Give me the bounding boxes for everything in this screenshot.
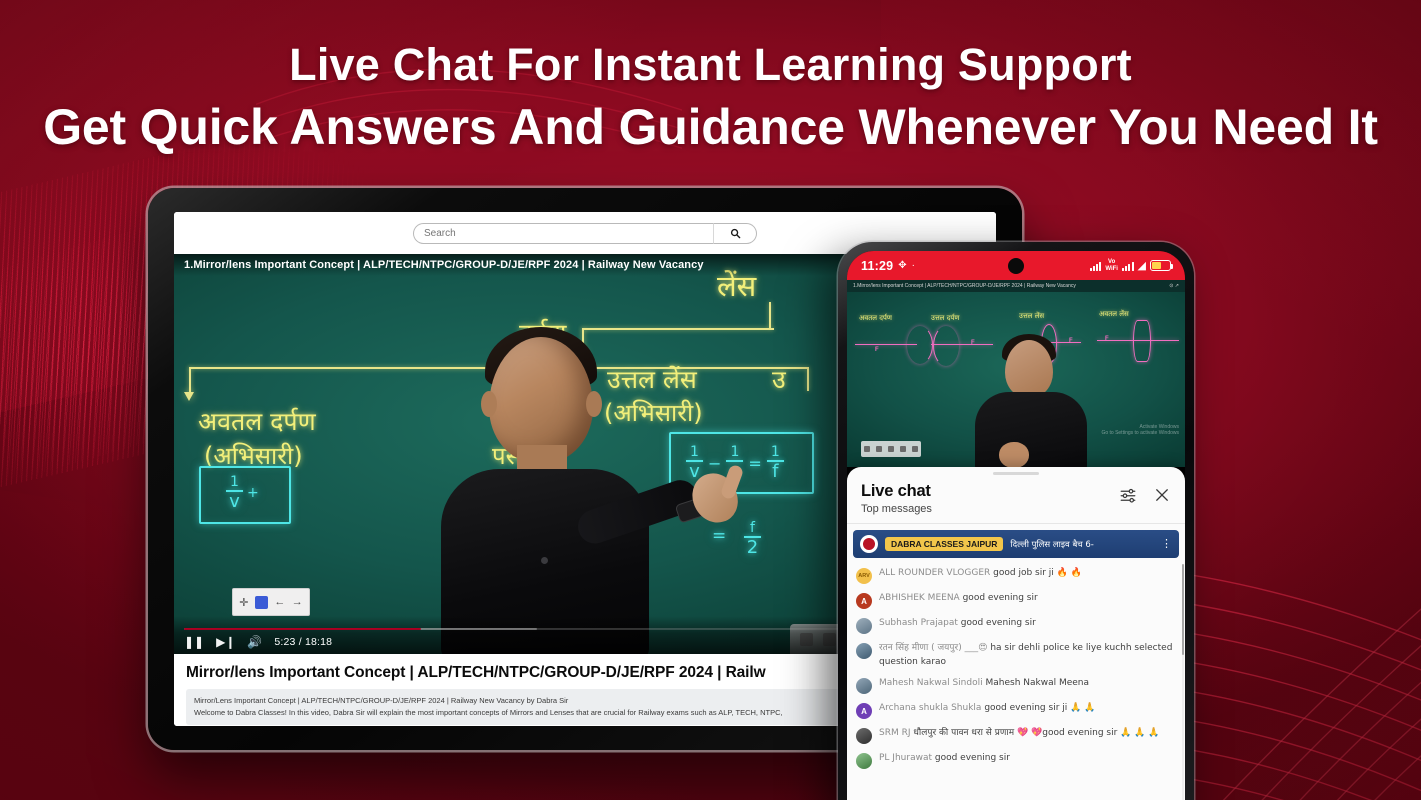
live-chat-heading-group: Live chat Top messages: [861, 482, 932, 515]
watermark-line-2: Go to Settings to activate Windows: [1101, 430, 1179, 437]
chat-author: रतन सिंह मीणा ( जयपुर) ___😍: [879, 643, 987, 653]
instructor-microphone: [541, 557, 548, 564]
diagram-label-concave-lens: अवतल लेंस: [1099, 310, 1129, 319]
live-chat-panel: Live chat Top messages: [847, 467, 1185, 800]
wifi-icon: ◢: [1138, 259, 1146, 272]
avatar: [856, 753, 872, 769]
live-chat-actions: [1119, 482, 1171, 504]
search-icon: [730, 228, 741, 239]
chat-message-body: Archana shukla Shukla good evening sir j…: [879, 702, 1095, 716]
signal-bars-icon-secondary: [1122, 261, 1134, 271]
pause-icon[interactable]: ❚❚: [184, 636, 204, 648]
chat-message[interactable]: SRM RJ धौलपुर की पावन धरा से प्रणाम 💖 💖g…: [847, 723, 1185, 748]
next-track-icon[interactable]: ▶❙: [216, 636, 235, 648]
chat-message-body: Mahesh Nakwal Sindoli Mahesh Nakwal Meen…: [879, 677, 1089, 691]
diagram-label-concave-mirror: अवतल दर्पण: [859, 314, 892, 323]
chat-text: good job sir ji 🔥 🔥: [993, 568, 1082, 578]
phone-tool-icon-2[interactable]: [876, 446, 882, 452]
chat-author: ABHISHEK MEENA: [879, 593, 960, 603]
status-dot-icon: ·: [912, 260, 915, 271]
chat-text: Mahesh Nakwal Meena: [986, 678, 1090, 688]
live-chat-subtitle[interactable]: Top messages: [861, 503, 932, 515]
chat-message-body: SRM RJ धौलपुर की पावन धरा से प्रणाम 💖 💖g…: [879, 727, 1160, 741]
chat-scrollbar[interactable]: [1182, 564, 1184, 800]
phone-instructor-hand: [999, 442, 1029, 467]
avatar: [856, 678, 872, 694]
avatar: [856, 618, 872, 634]
instructor-figure: [429, 319, 659, 654]
avatar: [856, 643, 872, 659]
phone-video-title-text: 1.Mirror/lens Important Concept | ALP/TE…: [853, 283, 1076, 289]
pinned-channel-badge: DABRA CLASSES JAIPUR: [885, 537, 1003, 551]
filter-settings-icon[interactable]: [1119, 486, 1137, 504]
status-bar-right: VoWiFi ◢: [1090, 259, 1171, 272]
signal-bars-icon: [1090, 261, 1102, 271]
bluetooth-icon: ✥: [898, 260, 906, 271]
diagram-focal-3: F: [1069, 338, 1073, 344]
chat-message[interactable]: PL Jhurawat good evening sir: [847, 748, 1185, 773]
search-button[interactable]: [713, 223, 757, 244]
avatar: [856, 728, 872, 744]
more-vertical-icon[interactable]: ⋮: [1161, 541, 1172, 548]
chat-message-body: रतन सिंह मीणा ( जयपुर) ___😍 ha sir dehli…: [879, 642, 1175, 669]
volte-icon: VoWiFi: [1105, 259, 1118, 272]
annotation-move-toolbar[interactable]: ✛ ← →: [232, 588, 310, 616]
live-chat-title: Live chat: [861, 482, 932, 501]
phone-video-player[interactable]: अवतल दर्पण F उत्तल दर्पण F उत्तल लेंस F …: [847, 292, 1185, 467]
chat-author: PL Jhurawat: [879, 753, 932, 763]
arrow-right-icon[interactable]: →: [292, 596, 303, 608]
chat-text: good evening sir: [935, 753, 1010, 763]
chat-text: good evening sir ji 🙏 🙏: [984, 703, 1095, 713]
chat-message[interactable]: ARV ALL ROUNDER VLOGGER good job sir ji …: [847, 563, 1185, 588]
chat-message-body: ABHISHEK MEENA good evening sir: [879, 592, 1038, 606]
pinned-avatar: [860, 535, 878, 553]
phone-instructor-head: [1005, 340, 1053, 398]
phone-annotation-toolbar[interactable]: [861, 441, 921, 457]
chat-message-body: PL Jhurawat good evening sir: [879, 752, 1010, 766]
avatar: A: [856, 593, 872, 609]
phone-device: 11:29 ✥ · VoWiFi ◢ 1.Mirror/len: [838, 242, 1194, 800]
windows-activation-watermark: Activate Windows Go to Settings to activ…: [1101, 424, 1179, 438]
chat-message[interactable]: A ABHISHEK MEENA good evening sir: [847, 588, 1185, 613]
chalk-mirror-left-drop: [189, 367, 191, 395]
chat-message[interactable]: रतन सिंह मीणा ( जयपुर) ___😍 ha sir dehli…: [847, 638, 1185, 673]
close-icon[interactable]: [1153, 486, 1171, 504]
chat-author: ALL ROUNDER VLOGGER: [879, 568, 990, 578]
chalk-formula-box-left: [199, 466, 291, 524]
phone-screen: 11:29 ✥ · VoWiFi ◢ 1.Mirror/len: [847, 251, 1185, 800]
phone-video-strip-icons[interactable]: ⊙ ↗: [1169, 283, 1179, 289]
phone-instructor-body: [975, 392, 1087, 467]
front-camera-punch-hole: [1008, 258, 1024, 274]
chat-text: धौलपुर की पावन धरा से प्रणाम 💖 💖good eve…: [913, 728, 1159, 738]
status-bar-left: 11:29 ✥ ·: [861, 259, 915, 273]
chat-author: Mahesh Nakwal Sindoli: [879, 678, 983, 688]
instructor-ear-left: [481, 391, 497, 417]
avatar: A: [856, 703, 872, 719]
chat-message-body: Subhash Prajapat good evening sir: [879, 617, 1036, 631]
phone-tool-icon-5[interactable]: [912, 446, 918, 452]
chat-message[interactable]: A Archana shukla Shukla good evening sir…: [847, 698, 1185, 723]
chalk-lens-stem: [769, 302, 771, 328]
pinned-message[interactable]: DABRA CLASSES JAIPUR दिल्ली पुलिस लाइव ब…: [853, 530, 1179, 558]
move-cross-icon[interactable]: ✛: [239, 596, 248, 609]
phone-status-bar: 11:29 ✥ · VoWiFi ◢: [847, 251, 1185, 280]
instructor-ear-right: [586, 391, 602, 417]
diagram-concave-mirror-arc: [907, 326, 933, 364]
chalk-mirror-arrow-left: [184, 392, 194, 401]
diagram-convex-mirror-arc: [933, 326, 959, 366]
battery-icon: [1150, 260, 1171, 271]
volume-icon[interactable]: 🔊: [247, 636, 262, 648]
chat-author: SRM RJ: [879, 728, 911, 738]
phone-video-title-strip: 1.Mirror/lens Important Concept | ALP/TE…: [847, 280, 1185, 292]
chat-message-body: ALL ROUNDER VLOGGER good job sir ji 🔥 🔥: [879, 567, 1082, 581]
diagram-concave-lens-shape: [1133, 320, 1151, 362]
diagram-focal-4: F: [1105, 336, 1109, 342]
arrow-left-icon[interactable]: ←: [274, 596, 285, 608]
chat-text: good evening sir: [961, 618, 1036, 628]
avatar: ARV: [856, 568, 872, 584]
diagram-focal-1: F: [875, 347, 879, 353]
chat-author: Archana shukla Shukla: [879, 703, 981, 713]
phone-tool-icon-3[interactable]: [888, 446, 894, 452]
chat-message[interactable]: Subhash Prajapat good evening sir: [847, 613, 1185, 638]
chat-author: Subhash Prajapat: [879, 618, 958, 628]
diagram-label-convex-mirror: उत्तल दर्पण: [931, 314, 959, 323]
chat-scrollbar-thumb[interactable]: [1182, 564, 1184, 655]
watermark-line-1: Activate Windows: [1101, 424, 1179, 431]
phone-tool-icon-1[interactable]: [864, 446, 870, 452]
phone-tool-icon-4[interactable]: [900, 446, 906, 452]
video-time-display: 5:23 / 18:18: [274, 636, 332, 648]
diagram-label-convex-lens: उत्तल लेंस: [1019, 312, 1044, 321]
chalk-mirror-right-drop: [807, 367, 809, 391]
search-input[interactable]: [413, 223, 713, 244]
chat-message[interactable]: Mahesh Nakwal Sindoli Mahesh Nakwal Meen…: [847, 673, 1185, 698]
chat-text: good evening sir: [963, 593, 1038, 603]
live-chat-header: Live chat Top messages: [847, 475, 1185, 523]
status-time: 11:29: [861, 259, 893, 273]
search-bar[interactable]: [413, 223, 757, 244]
annotation-color-chip[interactable]: [255, 596, 268, 609]
diagram-focal-2: F: [971, 340, 975, 346]
pinned-message-text: दिल्ली पुलिस लाइव बैच 6-: [1010, 539, 1154, 550]
chat-message-list[interactable]: DABRA CLASSES JAIPUR दिल्ली पुलिस लाइव ब…: [847, 524, 1185, 800]
